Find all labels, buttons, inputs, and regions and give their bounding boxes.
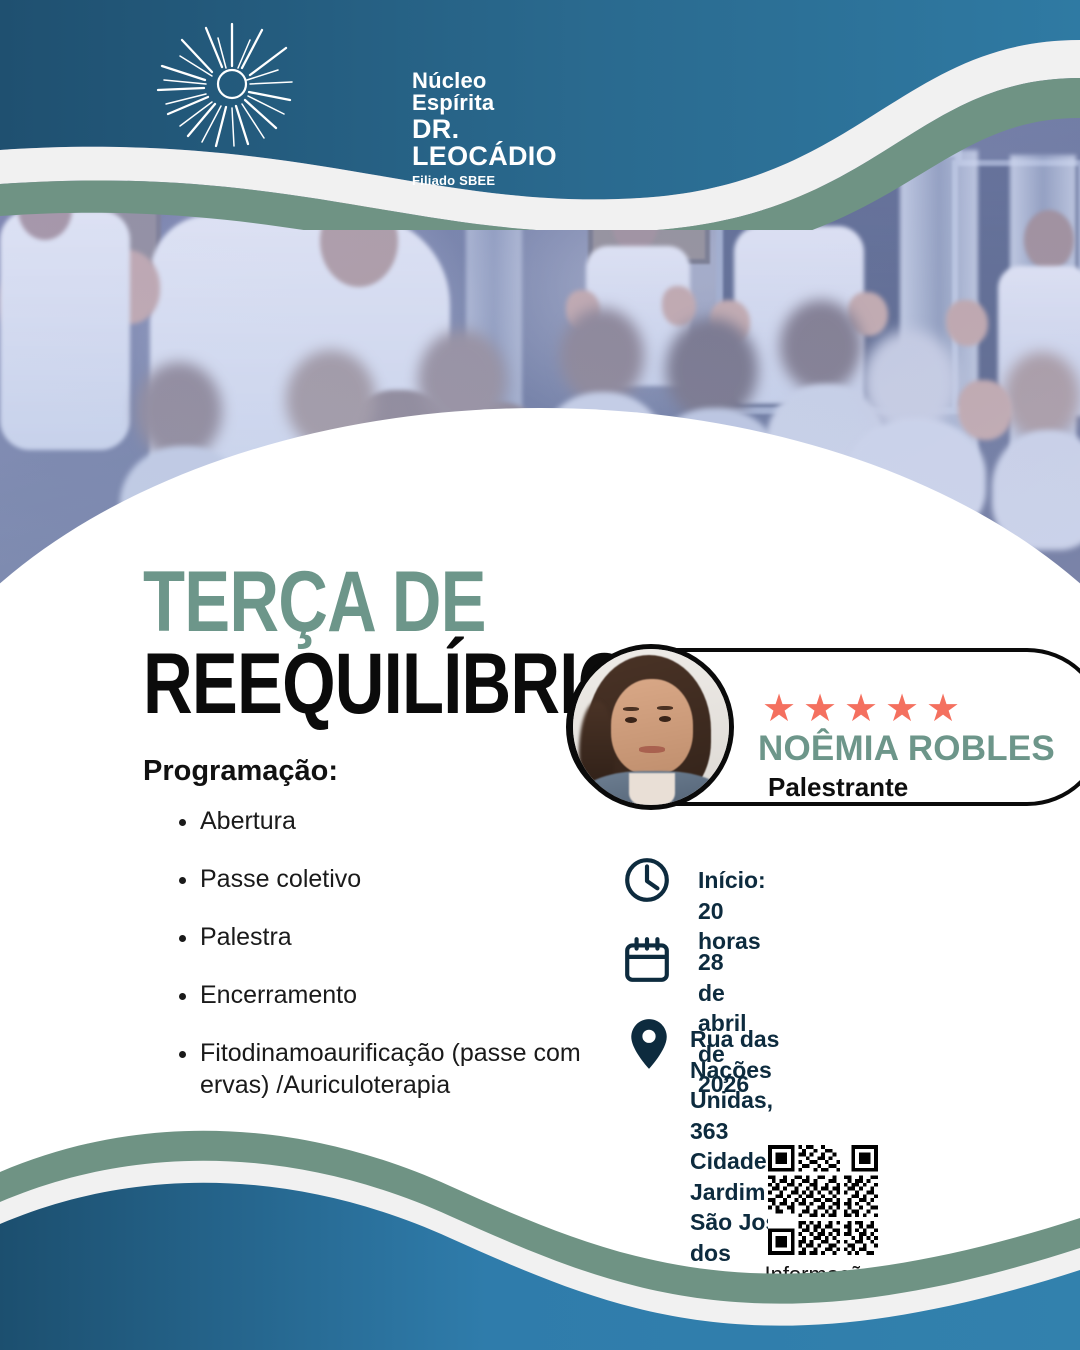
list-item: Passe coletivo (200, 863, 620, 895)
program-list: Abertura Passe coletivo Palestra Encerra… (160, 805, 620, 1127)
page-title-line1: TERÇA DE (143, 566, 486, 638)
star-icon: ★ (803, 694, 837, 728)
event-flyer: Núcleo Espírita DR. LEOCÁDIO Filiado SBE… (0, 0, 1080, 1350)
speaker-name: NOÊMIA ROBLES (758, 729, 1055, 769)
brand-line-2: DR. LEOCÁDIO (412, 116, 570, 170)
program-label: Programação: (143, 755, 338, 788)
brand-line-3: Filiado SBEE (412, 174, 570, 187)
detail-time-text: Início: 20 horas (698, 865, 766, 957)
star-icon: ★ (762, 694, 796, 728)
speaker-role: Palestrante (768, 772, 908, 803)
star-icon: ★ (844, 694, 878, 728)
footer-wave-band (0, 1090, 1080, 1350)
star-icon: ★ (885, 694, 919, 728)
rating-stars: ★ ★ ★ ★ ★ (762, 694, 960, 728)
list-item: Encerramento (200, 979, 620, 1011)
clock-icon (622, 855, 672, 905)
brand-line-1: Núcleo Espírita (412, 70, 570, 114)
list-item: Abertura (200, 805, 620, 837)
page-title-line2: REEQUILÍBRIO (143, 648, 630, 720)
brand-logo: Núcleo Espírita DR. LEOCÁDIO Filiado SBE… (150, 18, 570, 148)
list-item: Palestra (200, 921, 620, 953)
avatar (568, 644, 734, 810)
calendar-icon (622, 935, 672, 985)
star-icon: ★ (926, 694, 960, 728)
location-pin-icon (630, 1018, 668, 1070)
sunburst-icon (150, 18, 380, 148)
